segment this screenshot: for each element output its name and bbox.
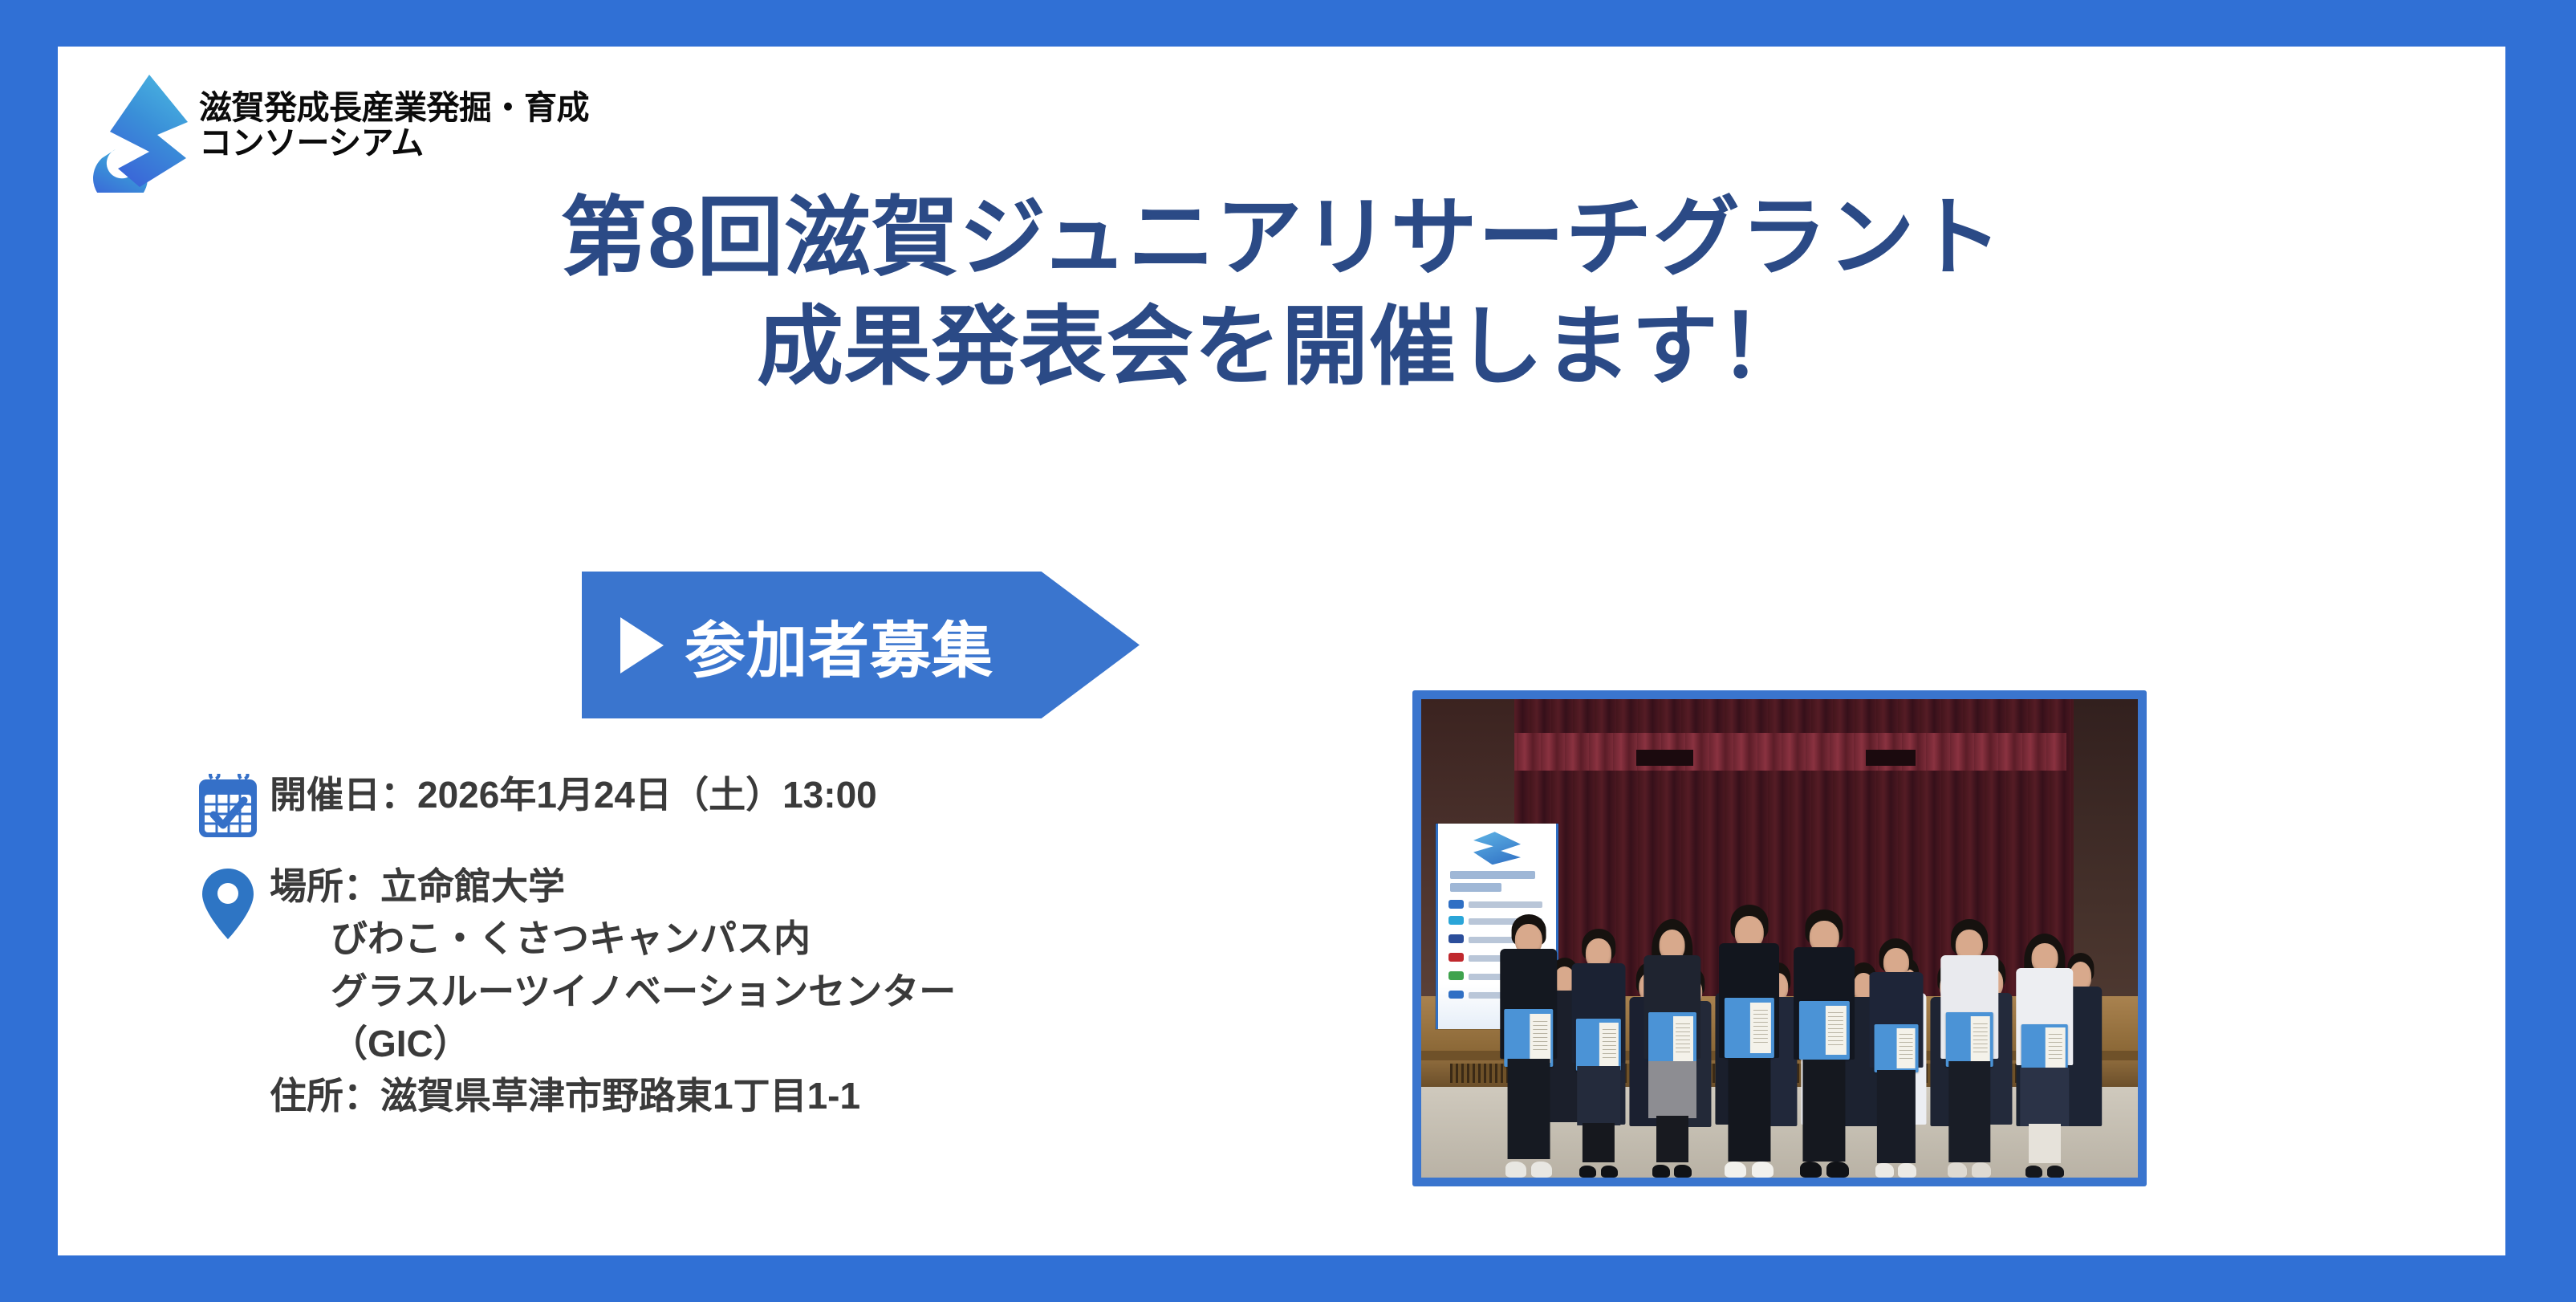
page-title-line-1: 第8回滋賀ジュニアリサーチグラント <box>58 183 2505 292</box>
hall-wall-right <box>2074 699 2138 996</box>
participant-recruitment-banner[interactable]: 参加者募集 <box>582 572 1140 718</box>
calendar-check-icon <box>186 769 270 843</box>
participant-recruitment-label: 参加者募集 <box>685 601 993 690</box>
event-venue-row: 場所：立命館大学 びわこ・くさつキャンパス内 グラスルーツイノベーションセンター… <box>186 861 1310 1123</box>
sponsor-logo-5 <box>1448 971 1464 980</box>
group-photo-frame <box>1412 690 2147 1186</box>
page-title: 第8回滋賀ジュニアリサーチグラント 成果発表会を開催します！ <box>58 183 2505 401</box>
banner-consortium-mark-icon <box>1473 832 1521 865</box>
sponsor-logo-3 <box>1448 934 1464 943</box>
map-pin-icon <box>186 861 270 942</box>
white-canvas: 滋賀発成長産業発掘・育成 コンソーシアム 第8回滋賀ジュニアリサーチグラント 成… <box>58 47 2505 1255</box>
sponsor-name-1 <box>1469 901 1542 908</box>
sponsor-logo-4 <box>1448 953 1464 962</box>
event-date-text: 開催日：2026年1月24日（土）13:00 <box>270 769 877 821</box>
event-details: 開催日：2026年1月24日（土）13:00 場所：立命館大学 びわこ・くさつキ… <box>186 769 1310 1123</box>
event-venue-text-group: 場所：立命館大学 びわこ・くさつキャンパス内 グラスルーツイノベーションセンター… <box>270 861 956 1123</box>
logo-wordmark: 滋賀発成長産業発掘・育成 コンソーシアム <box>199 90 648 161</box>
group-photo-award-ceremony <box>1421 699 2138 1178</box>
venue-line-4: （GIC） <box>270 1018 956 1070</box>
sponsor-logo-2 <box>1448 916 1464 925</box>
page-title-line-2: 成果発表会を開催します！ <box>58 292 2505 401</box>
logo-text-line-1: 滋賀発成長産業発掘・育成 <box>199 90 648 125</box>
venue-line-3: グラスルーツイノベーションセンター <box>270 966 956 1018</box>
sponsor-logo-1 <box>1448 900 1464 909</box>
stage-light-gap-right <box>1866 750 1916 767</box>
banner-title-line-1 <box>1450 871 1535 879</box>
venue-line-1: 場所：立命館大学 <box>270 861 956 913</box>
stage-valance <box>1493 733 2066 771</box>
event-date-row: 開催日：2026年1月24日（土）13:00 <box>186 769 1310 843</box>
venue-line-2: びわこ・くさつキャンパス内 <box>270 913 956 965</box>
consortium-logo: 滋賀発成長産業発掘・育成 コンソーシアム <box>80 72 658 177</box>
poster-root: 滋賀発成長産業発掘・育成 コンソーシアム 第8回滋賀ジュニアリサーチグラント 成… <box>0 0 2576 1302</box>
stage-light-gap-left <box>1636 750 1693 767</box>
logo-text-line-2: コンソーシアム <box>199 125 648 161</box>
lightning-s-mark-icon <box>80 72 197 193</box>
banner-title-line-2 <box>1450 883 1502 891</box>
play-triangle-icon <box>620 617 664 673</box>
venue-address: 住所：滋賀県草津市野路東1丁目1-1 <box>270 1070 956 1122</box>
sponsor-logo-6 <box>1448 991 1464 999</box>
